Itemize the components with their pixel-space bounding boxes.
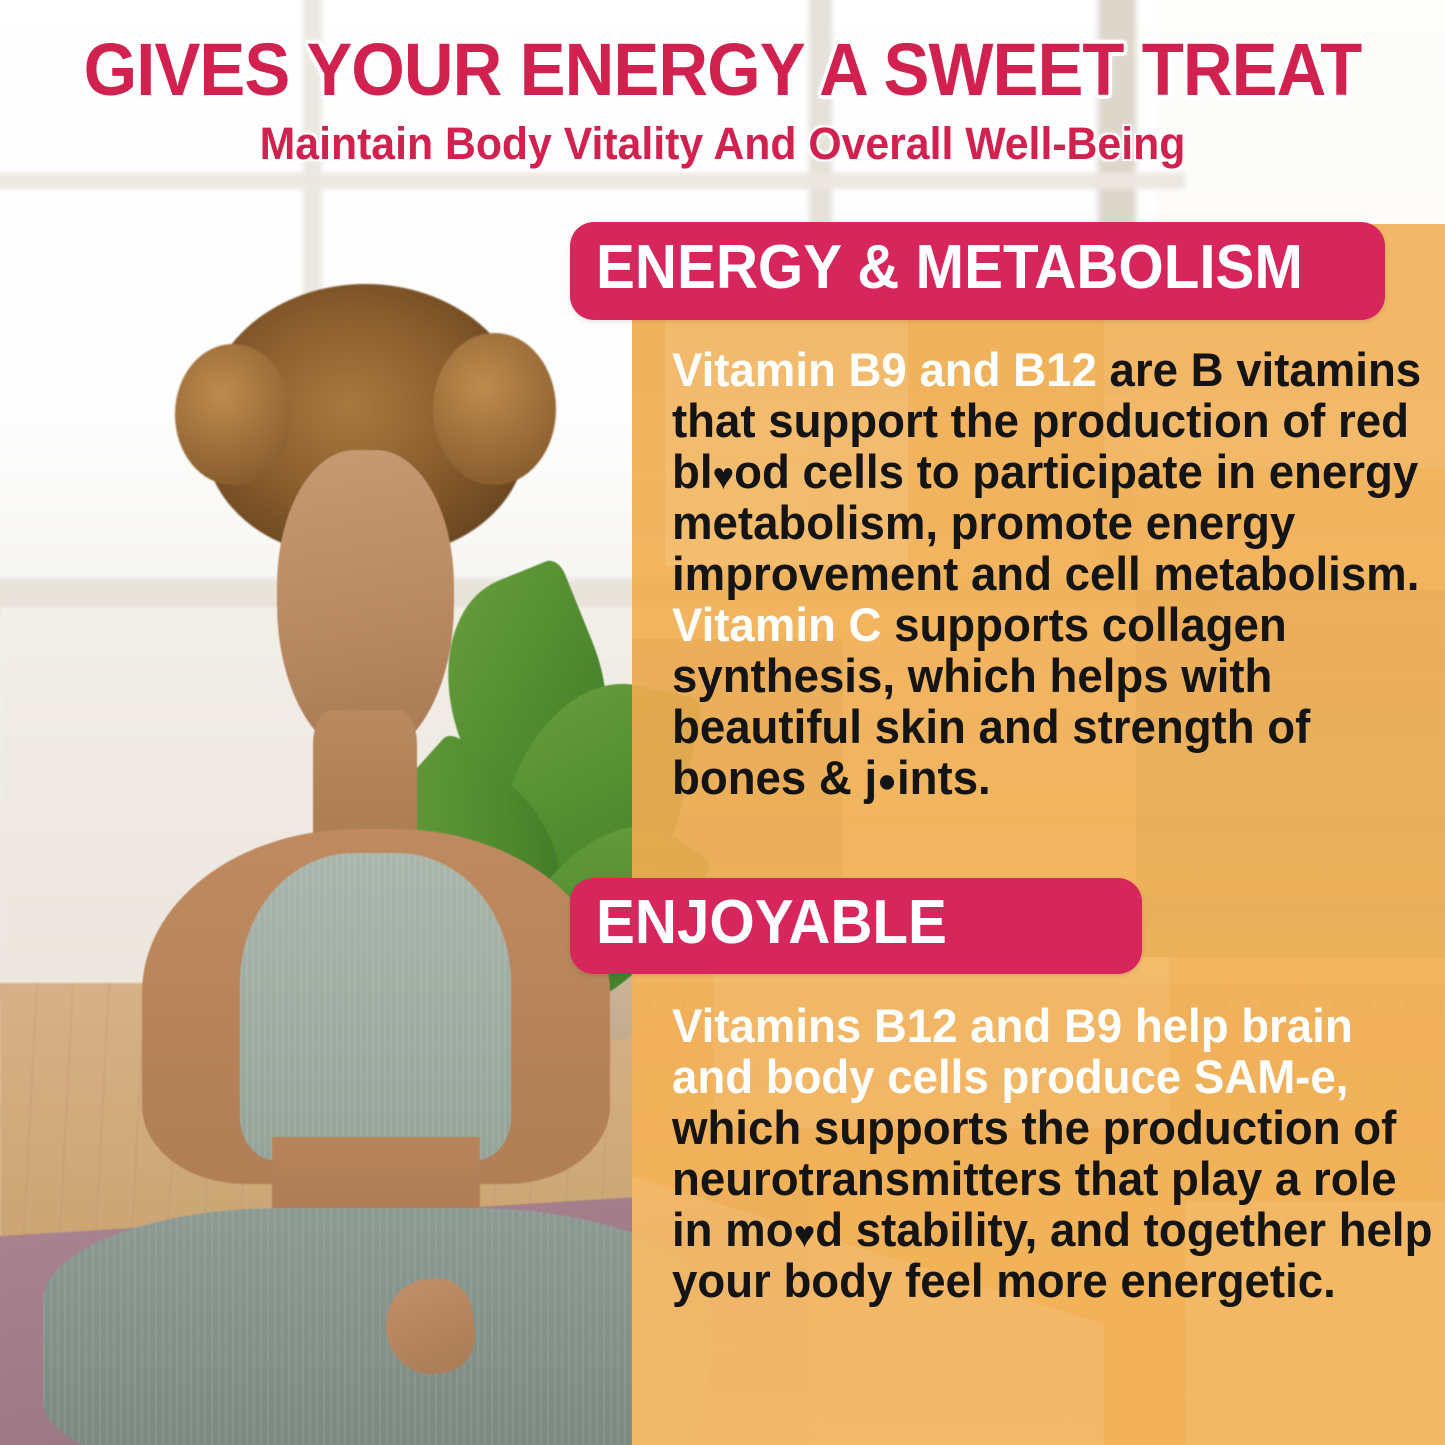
heart-icon: ♥ — [794, 1216, 816, 1254]
body-text-run: od cells to participate in energy metabo… — [672, 445, 1419, 600]
highlighted-term: Vitamin B9 and B12 — [672, 343, 1097, 396]
page-title: GIVES YOUR ENERGY A SWEET TREAT — [51, 34, 1395, 107]
highlighted-term: Vitamin C — [672, 598, 881, 651]
section-paragraph-enjoyable: Vitamins B12 and B9 help brain and body … — [672, 1000, 1438, 1306]
infographic-root: GIVES YOUR ENERGY A SWEET TREAT Maintain… — [0, 0, 1445, 1445]
page-subtitle: Maintain Body Vitality And Overall Well-… — [36, 121, 1409, 166]
section-banner-label: ENERGY & METABOLISM — [596, 237, 1303, 299]
highlighted-term: Vitamins B12 and B9 help brain and body … — [672, 999, 1353, 1103]
section-banner-label: ENJOYABLE — [596, 892, 947, 954]
body-text-run: ints. — [897, 751, 991, 804]
heart-icon: ♥ — [713, 458, 735, 496]
headline-block: GIVES YOUR ENERGY A SWEET TREAT Maintain… — [0, 34, 1445, 166]
section-banner-enjoyable: ENJOYABLE — [570, 878, 1142, 974]
section-banner-energy-metabolism: ENERGY & METABOLISM — [570, 222, 1385, 320]
dot-icon: ● — [877, 765, 897, 799]
section-paragraph-energy-metabolism: Vitamin B9 and B12 are B vitamins that s… — [672, 344, 1438, 803]
